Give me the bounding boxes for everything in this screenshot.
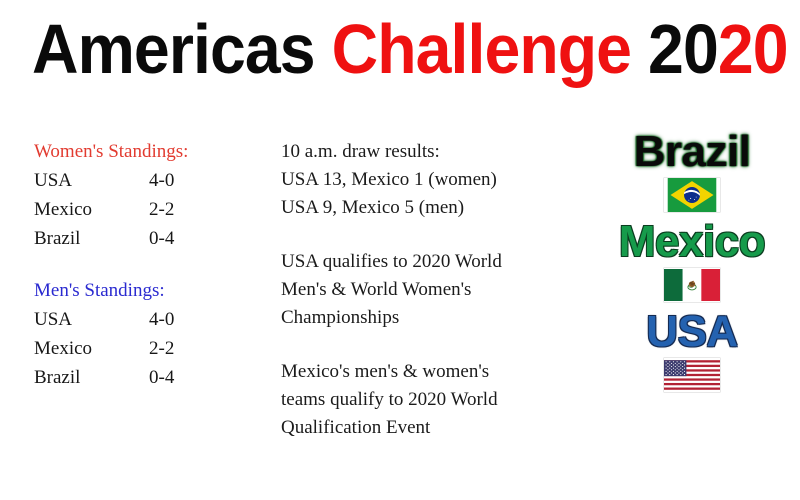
team-name: USA <box>34 166 149 195</box>
mens-standings-heading: Men's Standings: <box>34 277 264 304</box>
title-part-year-suffix: 20 <box>718 10 788 88</box>
country-name-mexico: Mexico <box>592 218 792 266</box>
page-title: Americas Challenge 2020 <box>32 10 713 88</box>
country-block-brazil: Brazil <box>592 128 792 212</box>
table-row: USA 4-0 <box>34 305 229 334</box>
team-name: USA <box>34 305 149 334</box>
mexico-qualification-line-1: Mexico's men's & women's <box>281 358 581 386</box>
team-record: 4-0 <box>149 305 229 334</box>
team-name: Brazil <box>34 363 149 392</box>
team-name: Mexico <box>34 195 149 224</box>
team-record: 2-2 <box>149 195 229 224</box>
draw-results-women: USA 13, Mexico 1 (women) <box>281 166 581 194</box>
table-row: Brazil 0-4 <box>34 363 229 392</box>
countries-column: Brazil Mexico <box>592 128 792 398</box>
table-row: Brazil 0-4 <box>34 224 229 253</box>
womens-standings-block: Women's Standings: USA 4-0 Mexico 2-2 Br… <box>34 138 264 253</box>
womens-standings-heading: Women's Standings: <box>34 138 264 165</box>
draw-results-men: USA 9, Mexico 5 (men) <box>281 194 581 222</box>
country-block-mexico: Mexico <box>592 218 792 302</box>
mexico-qualification-line-3: Qualification Event <box>281 414 581 442</box>
womens-standings-table: USA 4-0 Mexico 2-2 Brazil 0-4 <box>34 166 229 253</box>
draw-results-heading: 10 a.m. draw results: <box>281 138 581 166</box>
title-part-year-prefix: 20 <box>648 10 718 88</box>
table-row: Mexico 2-2 <box>34 334 229 363</box>
table-row: USA 4-0 <box>34 166 229 195</box>
country-block-usa: USA <box>592 308 792 392</box>
mexico-flag-icon <box>664 268 720 302</box>
standings-column: Women's Standings: USA 4-0 Mexico 2-2 Br… <box>34 138 264 416</box>
team-record: 2-2 <box>149 334 229 363</box>
table-row: Mexico 2-2 <box>34 195 229 224</box>
country-name-usa: USA <box>592 308 792 356</box>
team-name: Brazil <box>34 224 149 253</box>
mexico-qualification-paragraph: Mexico's men's & women's teams qualify t… <box>281 358 581 442</box>
results-column: 10 a.m. draw results: USA 13, Mexico 1 (… <box>281 138 581 468</box>
team-record: 4-0 <box>149 166 229 195</box>
mexico-qualification-line-2: teams qualify to 2020 World <box>281 386 581 414</box>
mens-standings-table: USA 4-0 Mexico 2-2 Brazil 0-4 <box>34 305 229 392</box>
mens-standings-block: Men's Standings: USA 4-0 Mexico 2-2 Braz… <box>34 277 264 392</box>
usa-qualification-line-2: Men's & World Women's <box>281 276 581 304</box>
title-part-challenge: Challenge <box>332 10 648 88</box>
country-name-brazil: Brazil <box>592 128 792 176</box>
usa-qualification-line-1: USA qualifies to 2020 World <box>281 248 581 276</box>
brazil-flag-icon <box>664 178 720 212</box>
team-name: Mexico <box>34 334 149 363</box>
team-record: 0-4 <box>149 224 229 253</box>
poster-canvas: Americas Challenge 2020 Women's Standing… <box>0 0 800 500</box>
title-part-americas: Americas <box>32 10 332 88</box>
usa-qualification-line-3: Championships <box>281 304 581 332</box>
usa-flag-icon <box>664 358 720 392</box>
draw-results-paragraph: 10 a.m. draw results: USA 13, Mexico 1 (… <box>281 138 581 222</box>
usa-qualification-paragraph: USA qualifies to 2020 World Men's & Worl… <box>281 248 581 332</box>
team-record: 0-4 <box>149 363 229 392</box>
